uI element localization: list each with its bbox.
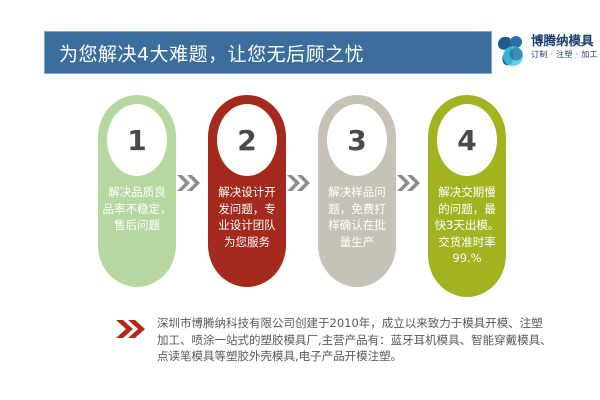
company-intro-block: 深圳市博腾纳科技有限公司创建于2010年，成立以来致力于模具开模、注塑加工、喷涂… [0,305,600,400]
step-item-2: 2 解决设计开发问题，专业设计团队为您服务 [208,95,286,287]
step-item-4: 4 解决交期慢的问题，最快3天出模。交货准时率99.% [428,95,506,297]
company-logo: 博腾纳模具 订制 · 注塑 · 加工 [497,30,597,76]
double-chevron-right-icon-2 [286,173,312,193]
double-chevron-right-icon-1 [176,173,202,193]
step-pill-1: 1 解决品质良品率不稳定，售后问题 [98,95,176,287]
step-description-2: 解决设计开发问题，专业设计团队为您服务 [212,184,282,250]
double-chevron-right-icon-3 [396,173,422,193]
logo-wordmark: 博腾纳模具 订制 · 注塑 · 加工 [531,33,597,61]
logo-company-name: 博腾纳模具 [531,33,597,48]
steps-row: 1 解决品质良品率不稳定，售后问题 2 解决设计开发问题，专业设计团队为您服务 … [0,95,600,305]
step-pill-4: 4 解决交期慢的问题，最快3天出模。交货准时率99.% [428,95,506,297]
logo-tagline: 订制 · 注塑 · 加工 [531,49,597,61]
step-pill-2: 2 解决设计开发问题，专业设计团队为您服务 [208,95,286,287]
page-title: 为您解决4大难题，让您无后顾之忧 [59,39,364,66]
company-intro-text: 深圳市博腾纳科技有限公司创建于2010年，成立以来致力于模具开模、注塑加工、喷涂… [157,315,577,365]
step-number-4: 4 [437,104,497,176]
page-header: 为您解决4大难题，让您无后顾之忧 博腾纳模具 订制 · 注塑 · 加工 [0,0,600,92]
step-description-3: 解决样品问题，免费打样确认在批量生产 [322,184,392,250]
step-number-1: 1 [107,104,167,176]
step-item-1: 1 解决品质良品率不稳定，售后问题 [98,95,176,287]
step-description-1: 解决品质良品率不稳定，售后问题 [102,184,172,234]
double-chevron-right-icon-footer [115,318,147,340]
step-pill-3: 3 解决样品问题，免费打样确认在批量生产 [318,95,396,287]
step-description-4: 解决交期慢的问题，最快3天出模。交货准时率99.% [432,184,502,267]
step-item-3: 3 解决样品问题，免费打样确认在批量生产 [318,95,396,287]
title-banner: 为您解决4大难题，让您无后顾之忧 [44,31,492,74]
butterfly-logo-icon [497,34,529,68]
step-number-2: 2 [217,104,277,176]
step-number-3: 3 [327,104,387,176]
